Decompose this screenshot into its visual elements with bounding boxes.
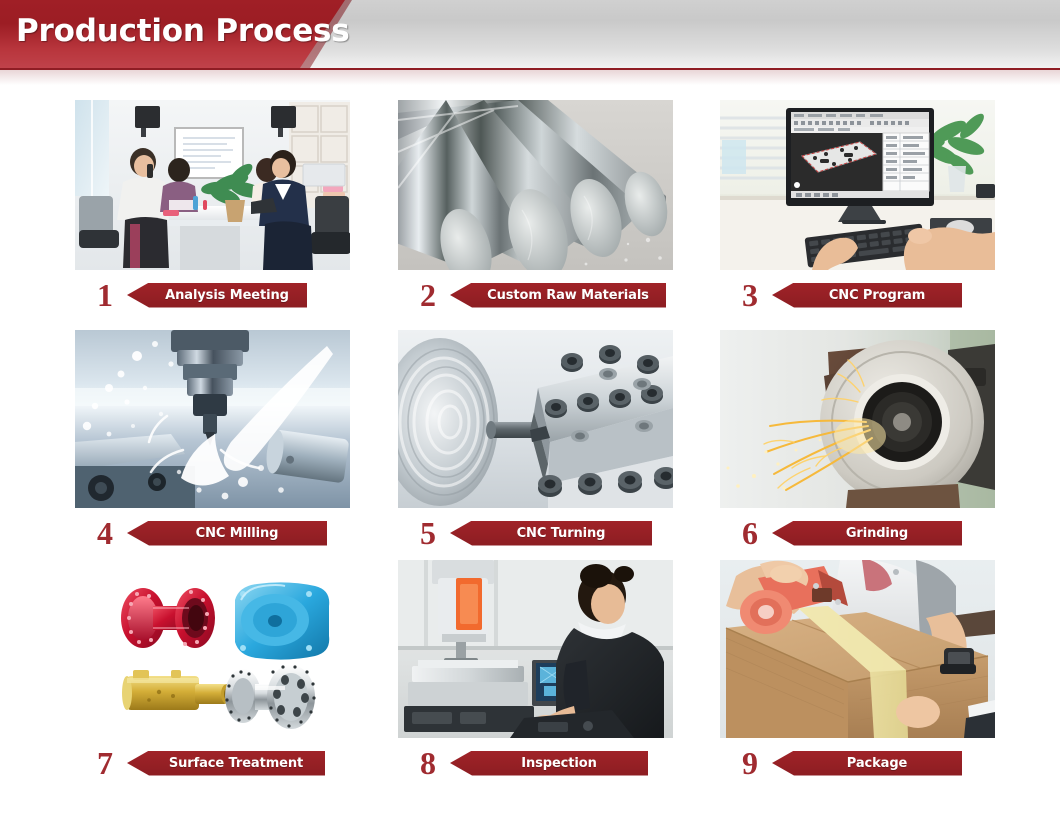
step-number: 3 (742, 280, 772, 310)
step-label-banner: Inspection (450, 751, 648, 776)
step-number: 5 (420, 518, 450, 548)
step-number: 1 (97, 280, 127, 310)
step-label: Grinding (846, 526, 908, 541)
cnc-lathe-turning-photo (398, 330, 673, 508)
step-label: Custom Raw Materials (487, 288, 649, 303)
anodized-finished-parts-photo (75, 560, 350, 738)
process-step-grid: 1 Analysis Meeting (0, 85, 1060, 822)
step-label: Surface Treatment (169, 756, 303, 771)
page-title: Production Process (16, 13, 350, 49)
step-label-banner: Analysis Meeting (127, 283, 307, 308)
step-number: 9 (742, 748, 772, 778)
step-number: 7 (97, 748, 127, 778)
step-label-banner: CNC Program (772, 283, 962, 308)
cnc-milling-coolant-photo (75, 330, 350, 508)
step-label-banner: Grinding (772, 521, 962, 546)
step-label: Package (847, 756, 908, 771)
step-number: 6 (742, 518, 772, 548)
step-label-banner: CNC Turning (450, 521, 652, 546)
grinding-wheel-sparks-photo (720, 330, 995, 508)
header-divider-fade (0, 70, 1060, 85)
step-label-banner: CNC Milling (127, 521, 327, 546)
page-header: Production Process (0, 0, 1060, 85)
step-number: 8 (420, 748, 450, 778)
step-label: CNC Program (829, 288, 925, 303)
step-number: 2 (420, 280, 450, 310)
step-number: 4 (97, 518, 127, 548)
cad-cam-programming-photo (720, 100, 995, 270)
cmm-inspection-operator-photo (398, 560, 673, 738)
step-label-banner: Custom Raw Materials (450, 283, 666, 308)
step-label: CNC Turning (517, 526, 606, 541)
step-label: Analysis Meeting (165, 288, 289, 303)
polished-steel-bars-photo (398, 100, 673, 270)
carton-taping-package-photo (720, 560, 995, 738)
step-label-banner: Package (772, 751, 962, 776)
step-label: Inspection (521, 756, 597, 771)
step-label-banner: Surface Treatment (127, 751, 325, 776)
step-label: CNC Milling (196, 526, 279, 541)
office-analysis-meeting-photo (75, 100, 350, 270)
